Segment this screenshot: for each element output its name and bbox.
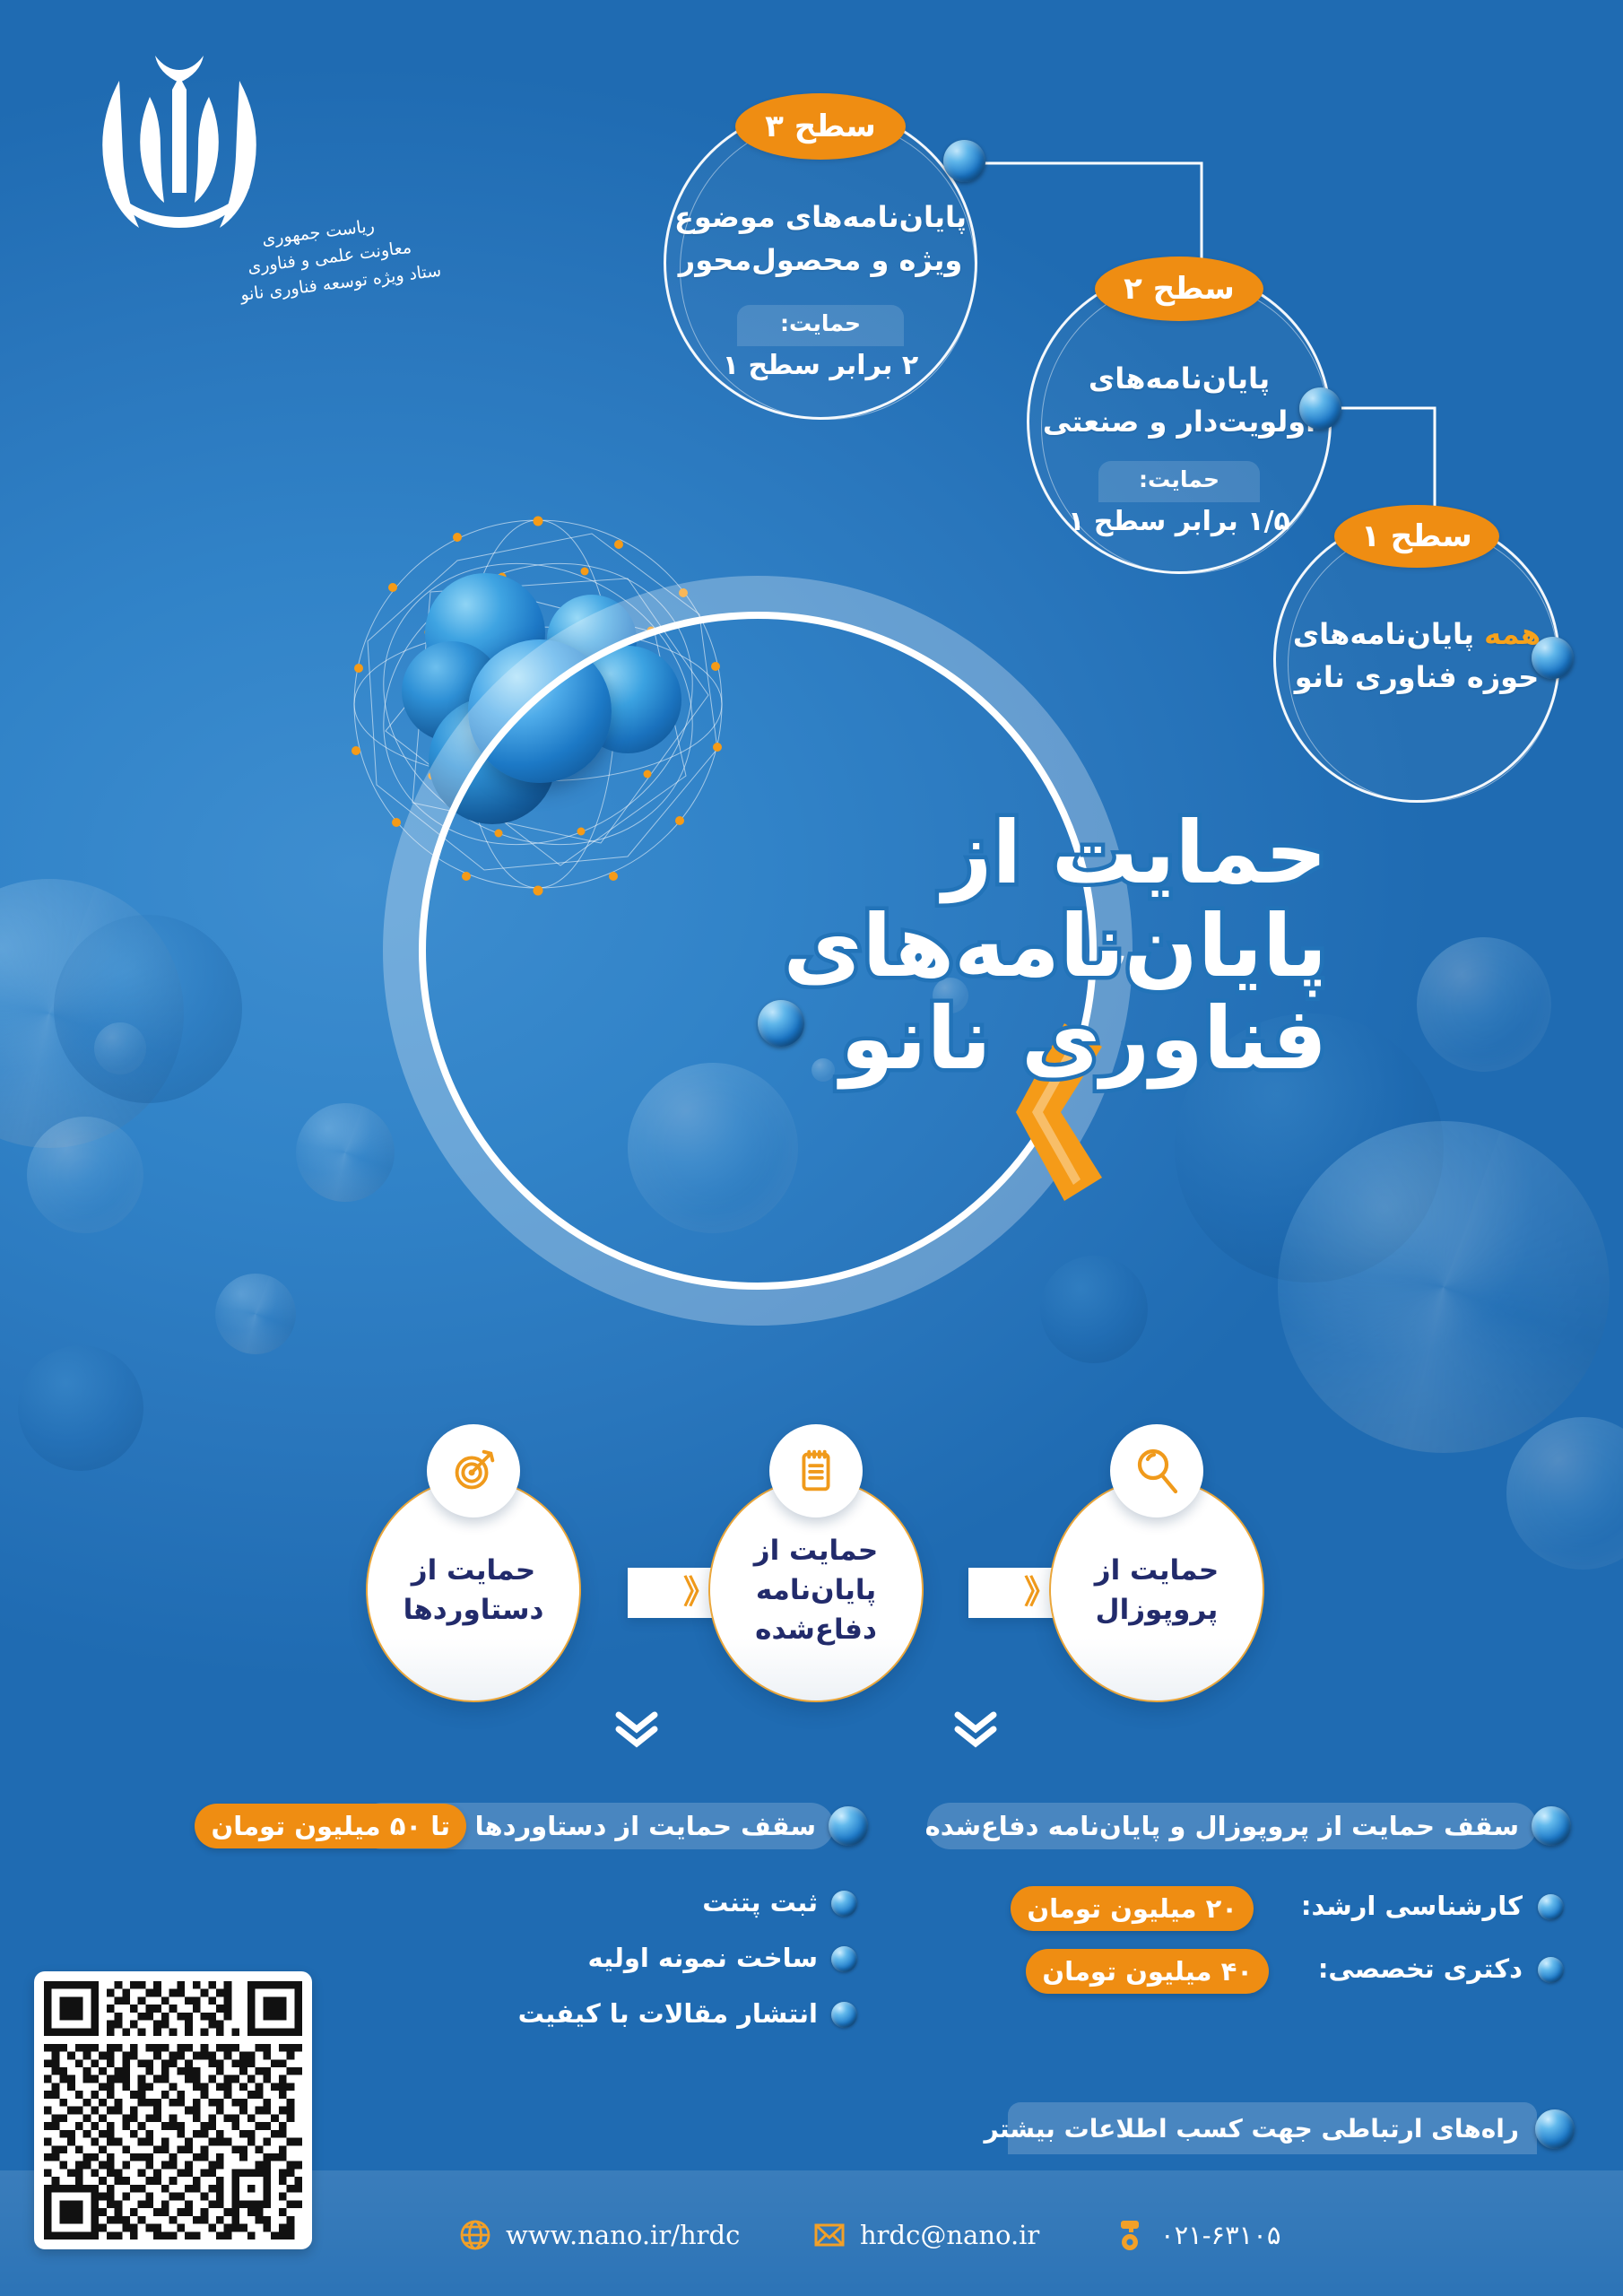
title-line-2: پایان‌نامه‌های bbox=[628, 900, 1327, 994]
support-left-item: انتشار مقالات با کیفیت bbox=[518, 1998, 818, 2029]
magnifier-icon bbox=[1110, 1424, 1203, 1518]
level-3-desc-line-2: ویژه و محصول‌محور bbox=[679, 243, 962, 277]
brand-logo: ریاست جمهوری معاونت علمی و فناوری ستاد و… bbox=[49, 27, 309, 287]
chevron-down-icon bbox=[949, 1704, 1002, 1751]
level-2-description: پایان‌نامه‌های اولویت‌دار و صنعتی bbox=[1027, 357, 1332, 443]
footer-website-text: www.nano.ir/hrdc bbox=[506, 2220, 740, 2250]
step1-line2: پروپوزال bbox=[1096, 1594, 1219, 1626]
background-bubble bbox=[27, 1117, 143, 1233]
support-right-heading-bar: سقف حمایت از پروپوزال و پایان‌نامه دفاع‌… bbox=[927, 1803, 1537, 1849]
level-1-node-knob bbox=[1532, 637, 1574, 679]
level-3-node-knob bbox=[943, 140, 985, 182]
phone-icon bbox=[1112, 2217, 1148, 2253]
background-bubble bbox=[54, 915, 242, 1103]
process-step-proposal[interactable]: حمایت از پروپوزال bbox=[1049, 1478, 1264, 1702]
support-left-item-knob bbox=[831, 2002, 857, 2028]
process-step-defended-thesis[interactable]: حمایت از پایان‌نامه دفاع‌شده bbox=[708, 1478, 924, 1702]
support-right-row-label: کارشناسی ارشد: bbox=[1301, 1891, 1523, 1921]
process-step-achievements[interactable]: حمایت از دستاوردها bbox=[366, 1478, 581, 1702]
footer-phone[interactable]: ۰۲۱-۶۳۱۰۵ bbox=[1112, 2217, 1280, 2253]
level-3-support-box: حمایت: bbox=[737, 305, 904, 346]
support-right-row-value-text: ۴۰ میلیون تومان bbox=[1042, 1956, 1253, 1987]
support-left-item-knob bbox=[831, 1891, 857, 1917]
process-step-defended-thesis-label: حمایت از پایان‌نامه دفاع‌شده bbox=[742, 1531, 891, 1649]
level-1-badge: سطح ۱ bbox=[1334, 505, 1499, 568]
level-2-badge-label: سطح ۲ bbox=[1124, 271, 1235, 307]
level-2-support-label: حمایت: bbox=[1139, 466, 1219, 492]
level-3-description: پایان‌نامه‌های موضوع ویژه و محصول‌محور bbox=[664, 196, 977, 282]
title-line-1: حمایت از bbox=[628, 807, 1327, 900]
support-left-item: ساخت نمونه اولیه bbox=[588, 1943, 818, 1973]
background-bubble bbox=[1278, 1121, 1610, 1453]
chevron-down-icon bbox=[610, 1704, 664, 1751]
process-flow: 《 《 حمایت از پروپوزال bbox=[0, 1444, 1623, 1713]
step3-line2: دستاوردها bbox=[404, 1594, 544, 1626]
globe-icon bbox=[457, 2217, 493, 2253]
support-right-heading: سقف حمایت از پروپوزال و پایان‌نامه دفاع‌… bbox=[927, 1811, 1537, 1841]
level-2-support-value: ۱/۵ برابر سطح ۱ bbox=[1068, 506, 1290, 537]
process-step-proposal-label: حمایت از پروپوزال bbox=[1082, 1551, 1232, 1630]
footer-email[interactable]: hrdc@nano.ir bbox=[811, 2217, 1039, 2253]
level-1-desc-line-1: پایان‌نامه‌های bbox=[1293, 617, 1474, 651]
level-3-support-value: ۲ برابر سطح ۱ bbox=[723, 350, 918, 381]
level-3-badge: سطح ۳ bbox=[735, 93, 906, 160]
level-2-desc-line-2: اولویت‌دار و صنعتی bbox=[1043, 404, 1315, 439]
level-3-desc-line-1: پایان‌نامه‌های موضوع bbox=[674, 200, 967, 234]
page-title: حمایت از پایان‌نامه‌های فناوری نانو bbox=[628, 807, 1327, 1086]
level-2-support-value-text: ۱/۵ برابر سطح ۱ bbox=[1068, 506, 1290, 537]
level-2-support-box: حمایت: bbox=[1098, 461, 1260, 502]
process-step-achievements-label: حمایت از دستاوردها bbox=[391, 1551, 557, 1630]
title-line-3: فناوری نانو bbox=[628, 993, 1327, 1086]
footer-website[interactable]: www.nano.ir/hrdc bbox=[457, 2217, 740, 2253]
support-left-cap-text: تا ۵۰ میلیون تومان bbox=[211, 1811, 450, 1841]
level-1-badge-label: سطح ۱ bbox=[1361, 518, 1472, 554]
support-right-heading-knob bbox=[1532, 1806, 1571, 1846]
step2-line3: دفاع‌شده bbox=[755, 1613, 877, 1646]
level-1-desc-line-2: حوزه فناوری نانو bbox=[1295, 660, 1540, 694]
clipboard-icon bbox=[769, 1424, 863, 1518]
target-icon bbox=[427, 1424, 520, 1518]
level-card-3[interactable]: سطح ۳ پایان‌نامه‌های موضوع ویژه و محصول‌… bbox=[664, 106, 977, 420]
level-2-node-knob bbox=[1299, 387, 1341, 430]
footer-heading: راه‌های ارتباطی جهت کسب اطلاعات بیشتر bbox=[1008, 2114, 1537, 2144]
step3-line1: حمایت از bbox=[412, 1554, 536, 1587]
support-right-row-value: ۴۰ میلیون تومان bbox=[1026, 1949, 1269, 1994]
level-2-badge: سطح ۲ bbox=[1095, 257, 1263, 321]
support-left-item: ثبت پتنت bbox=[702, 1887, 818, 1918]
step2-line2: پایان‌نامه bbox=[756, 1574, 876, 1606]
step2-line1: حمایت از bbox=[754, 1535, 879, 1567]
support-right-row-knob bbox=[1538, 1894, 1564, 1920]
footer-heading-bar: راه‌های ارتباطی جهت کسب اطلاعات بیشتر bbox=[1008, 2102, 1537, 2154]
level-3-support-label: حمایت: bbox=[780, 310, 861, 336]
footer-heading-knob bbox=[1535, 2109, 1575, 2149]
level-3-support-value-text: ۲ برابر سطح ۱ bbox=[723, 350, 918, 381]
background-bubble bbox=[1417, 937, 1551, 1072]
poster-canvas: ریاست جمهوری معاونت علمی و فناوری ستاد و… bbox=[0, 0, 1623, 2296]
support-right-row-value-text: ۲۰ میلیون تومان bbox=[1027, 1893, 1237, 1924]
background-bubble bbox=[94, 1022, 146, 1074]
level-1-desc-highlight: همه bbox=[1484, 617, 1541, 651]
qr-code[interactable] bbox=[34, 1971, 312, 2249]
level-1-description: همه پایان‌نامه‌های حوزه فناوری نانو bbox=[1273, 613, 1560, 699]
background-bubble bbox=[215, 1274, 296, 1354]
level-3-badge-label: سطح ۳ bbox=[765, 109, 876, 144]
step1-line1: حمایت از bbox=[1095, 1554, 1219, 1587]
support-left-heading-knob bbox=[829, 1806, 868, 1846]
level-card-1[interactable]: سطح ۱ همه پایان‌نامه‌های حوزه فناوری نان… bbox=[1273, 516, 1560, 803]
footer-email-text: hrdc@nano.ir bbox=[860, 2220, 1039, 2250]
background-bubble bbox=[0, 879, 184, 1148]
support-right-row-value: ۲۰ میلیون تومان bbox=[1011, 1886, 1254, 1931]
support-left-item-knob bbox=[831, 1946, 857, 1972]
footer-phone-text: ۰۲۱-۶۳۱۰۵ bbox=[1160, 2220, 1280, 2250]
support-left-cap-pill: تا ۵۰ میلیون تومان bbox=[195, 1804, 466, 1848]
support-right-row-knob bbox=[1538, 1957, 1564, 1983]
support-right-row-label: دکتری تخصصی: bbox=[1318, 1953, 1523, 1984]
level-2-desc-line-1: پایان‌نامه‌های bbox=[1089, 361, 1270, 396]
mail-icon bbox=[811, 2217, 847, 2253]
